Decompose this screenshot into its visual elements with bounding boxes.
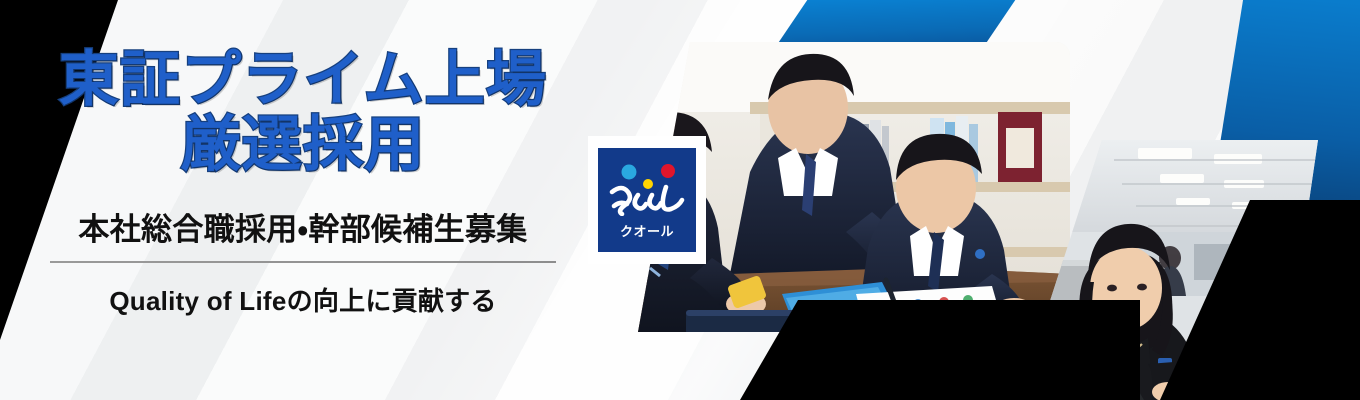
company-logo: クオール [588,136,706,264]
copy-block: 東証プライム上場 厳選採用 本社総合職採用・幹部候補生募集 Quality of… [38,48,568,318]
page-title: 東証プライム上場 厳選採用 [38,48,568,178]
dot-cyan-icon [622,165,637,180]
divider [50,261,556,263]
headline-line-1: 東証プライム上場 [59,46,547,113]
logo-kana-label: クオール [598,221,696,240]
subheadline: 本社総合職採用・幹部候補生募集 [38,204,568,249]
logo-tile: クオール [598,148,696,252]
dot-red-icon [661,164,675,178]
tagline: Quality of Lifeの向上に貢献する [38,281,568,318]
recruitment-banner: クオール 東証プライム上場 厳選採用 本社総合職採用・幹部候補生募集 Quali… [0,0,1360,400]
headline-line-2: 厳選採用 [38,113,568,178]
